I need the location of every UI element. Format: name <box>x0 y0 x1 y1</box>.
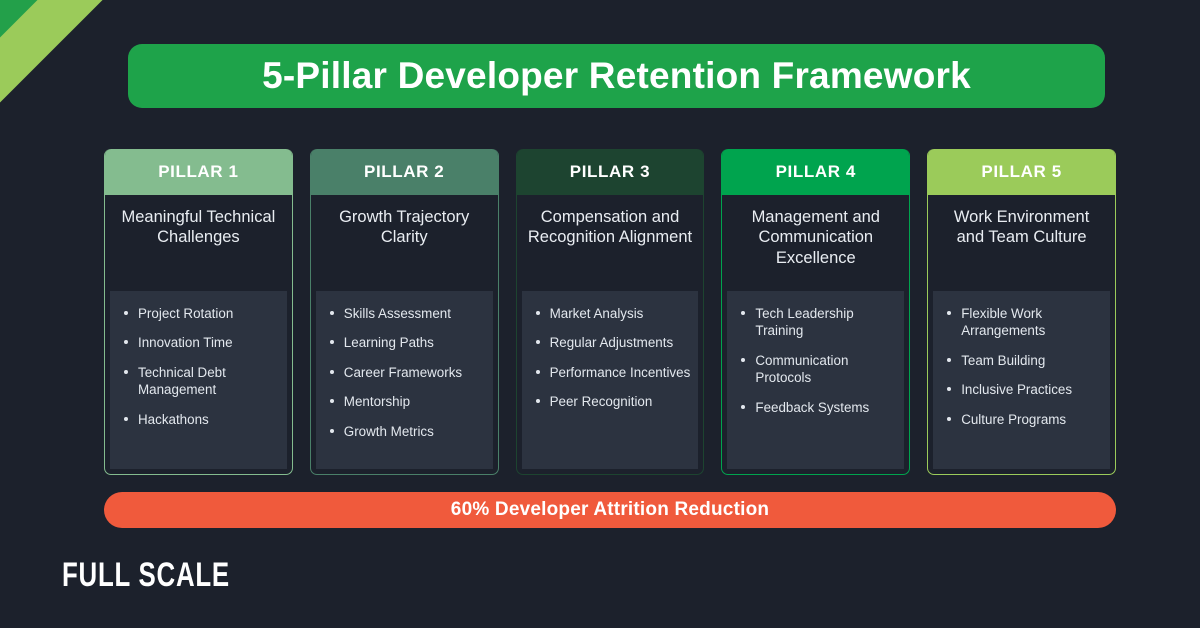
pillar-badge-1: PILLAR 1 <box>158 162 238 182</box>
list-item: Hackathons <box>120 411 279 428</box>
pillar-list-panel-2: Skills AssessmentLearning PathsCareer Fr… <box>316 291 493 469</box>
list-item: Market Analysis <box>532 305 691 322</box>
list-item: Peer Recognition <box>532 393 691 410</box>
list-item: Performance Incentives <box>532 364 691 381</box>
corner-decoration <box>0 0 110 110</box>
list-item: Innovation Time <box>120 334 279 351</box>
pillar-badge-2: PILLAR 2 <box>364 162 444 182</box>
pillar-list-1: Project RotationInnovation TimeTechnical… <box>120 305 279 428</box>
list-item: Growth Metrics <box>326 423 485 440</box>
pillar-card-4[interactable]: PILLAR 4Management and Communication Exc… <box>721 149 910 475</box>
pillar-title-3: Compensation and Recognition Alignment <box>517 195 704 291</box>
brand-logo-text: FULL SCALE <box>62 556 230 595</box>
pillar-badge-3: PILLAR 3 <box>570 162 650 182</box>
pillar-title-4: Management and Communication Excellence <box>722 195 909 291</box>
page-title-bar: 5-Pillar Developer Retention Framework <box>128 44 1105 108</box>
pillar-card-3[interactable]: PILLAR 3Compensation and Recognition Ali… <box>516 149 705 475</box>
list-item: Project Rotation <box>120 305 279 322</box>
pillar-header-3: PILLAR 3 <box>517 149 704 195</box>
pillar-card-2[interactable]: PILLAR 2Growth Trajectory ClaritySkills … <box>310 149 499 475</box>
pillar-title-2: Growth Trajectory Clarity <box>311 195 498 291</box>
list-item: Skills Assessment <box>326 305 485 322</box>
pillar-list-panel-4: Tech Leadership TrainingCommunication Pr… <box>727 291 904 469</box>
brand-logo: FULL SCALE <box>62 556 283 595</box>
pillars-row: PILLAR 1Meaningful Technical ChallengesP… <box>104 149 1116 475</box>
pillar-list-4: Tech Leadership TrainingCommunication Pr… <box>737 305 896 416</box>
pillar-list-5: Flexible Work ArrangementsTeam BuildingI… <box>943 305 1102 428</box>
pillar-list-2: Skills AssessmentLearning PathsCareer Fr… <box>326 305 485 440</box>
pillar-badge-5: PILLAR 5 <box>981 162 1061 182</box>
pillar-list-panel-1: Project RotationInnovation TimeTechnical… <box>110 291 287 469</box>
list-item: Career Frameworks <box>326 364 485 381</box>
list-item: Tech Leadership Training <box>737 305 896 340</box>
pillar-title-1: Meaningful Technical Challenges <box>105 195 292 291</box>
list-item: Technical Debt Management <box>120 364 279 399</box>
list-item: Flexible Work Arrangements <box>943 305 1102 340</box>
pillar-card-1[interactable]: PILLAR 1Meaningful Technical ChallengesP… <box>104 149 293 475</box>
list-item: Team Building <box>943 352 1102 369</box>
corner-stripe-light-icon <box>0 0 110 110</box>
corner-stripe-dark-icon <box>0 0 88 110</box>
pillar-card-5[interactable]: PILLAR 5Work Environment and Team Cultur… <box>927 149 1116 475</box>
pillar-list-panel-3: Market AnalysisRegular AdjustmentsPerfor… <box>522 291 699 469</box>
pillar-list-panel-5: Flexible Work ArrangementsTeam BuildingI… <box>933 291 1110 469</box>
list-item: Learning Paths <box>326 334 485 351</box>
pillar-header-2: PILLAR 2 <box>311 149 498 195</box>
result-banner: 60% Developer Attrition Reduction <box>104 492 1116 528</box>
pillar-title-5: Work Environment and Team Culture <box>928 195 1115 291</box>
list-item: Regular Adjustments <box>532 334 691 351</box>
pillar-header-4: PILLAR 4 <box>722 149 909 195</box>
result-banner-text: 60% Developer Attrition Reduction <box>451 499 769 521</box>
list-item: Feedback Systems <box>737 399 896 416</box>
list-item: Culture Programs <box>943 411 1102 428</box>
pillar-header-5: PILLAR 5 <box>928 149 1115 195</box>
list-item: Inclusive Practices <box>943 381 1102 398</box>
pillar-header-1: PILLAR 1 <box>105 149 292 195</box>
page-title: 5-Pillar Developer Retention Framework <box>262 55 971 97</box>
list-item: Communication Protocols <box>737 352 896 387</box>
pillar-badge-4: PILLAR 4 <box>776 162 856 182</box>
list-item: Mentorship <box>326 393 485 410</box>
pillar-list-3: Market AnalysisRegular AdjustmentsPerfor… <box>532 305 691 411</box>
